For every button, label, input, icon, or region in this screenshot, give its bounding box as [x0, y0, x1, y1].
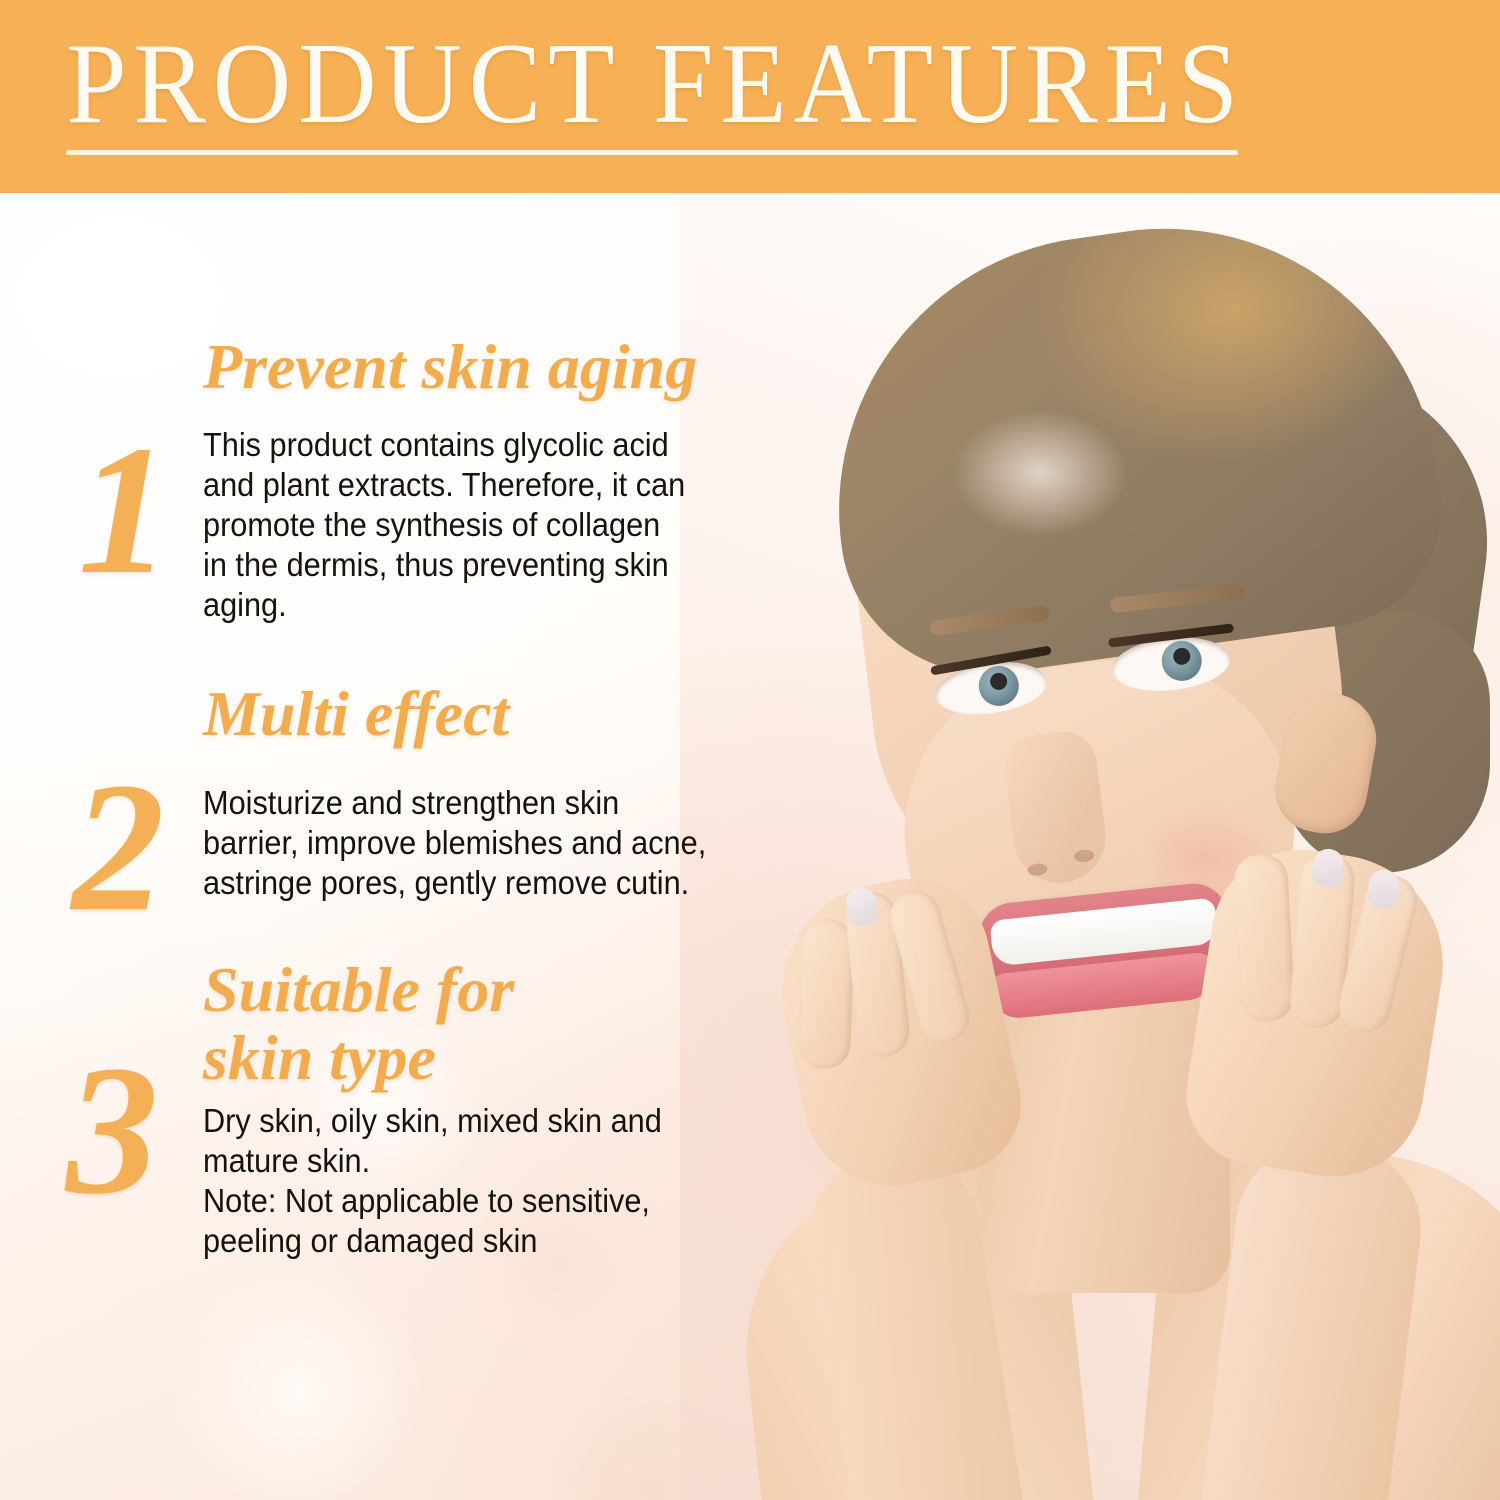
product-features-page: PRODUCT FEATURES [0, 0, 1500, 1500]
forehead-highlight [915, 383, 1165, 563]
finger [798, 918, 855, 1070]
feature-title-2: Multi effect [203, 680, 903, 748]
feature-number-3: 3 [66, 1038, 159, 1223]
feature-body-3: Dry skin, oily skin, mixed skin and matu… [203, 1101, 724, 1261]
nostril [1027, 863, 1048, 877]
nostril [1073, 849, 1094, 863]
feature-body-2: Moisturize and strengthen skin barrier, … [203, 783, 724, 903]
header-banner: PRODUCT FEATURES [0, 0, 1500, 193]
page-title: PRODUCT FEATURES [66, 26, 1245, 142]
finger [1233, 852, 1296, 1023]
features-list: 1 Prevent skin aging This product contai… [0, 193, 760, 1500]
feature-title-1: Prevent skin aging [203, 333, 903, 401]
feature-number-1: 1 [78, 418, 171, 603]
title-underline [66, 150, 1238, 155]
feature-body-1: This product contains glycolic acid and … [203, 425, 724, 625]
feature-title-3: Suitable for skin type [203, 956, 763, 1092]
feature-number-2: 2 [72, 755, 165, 940]
